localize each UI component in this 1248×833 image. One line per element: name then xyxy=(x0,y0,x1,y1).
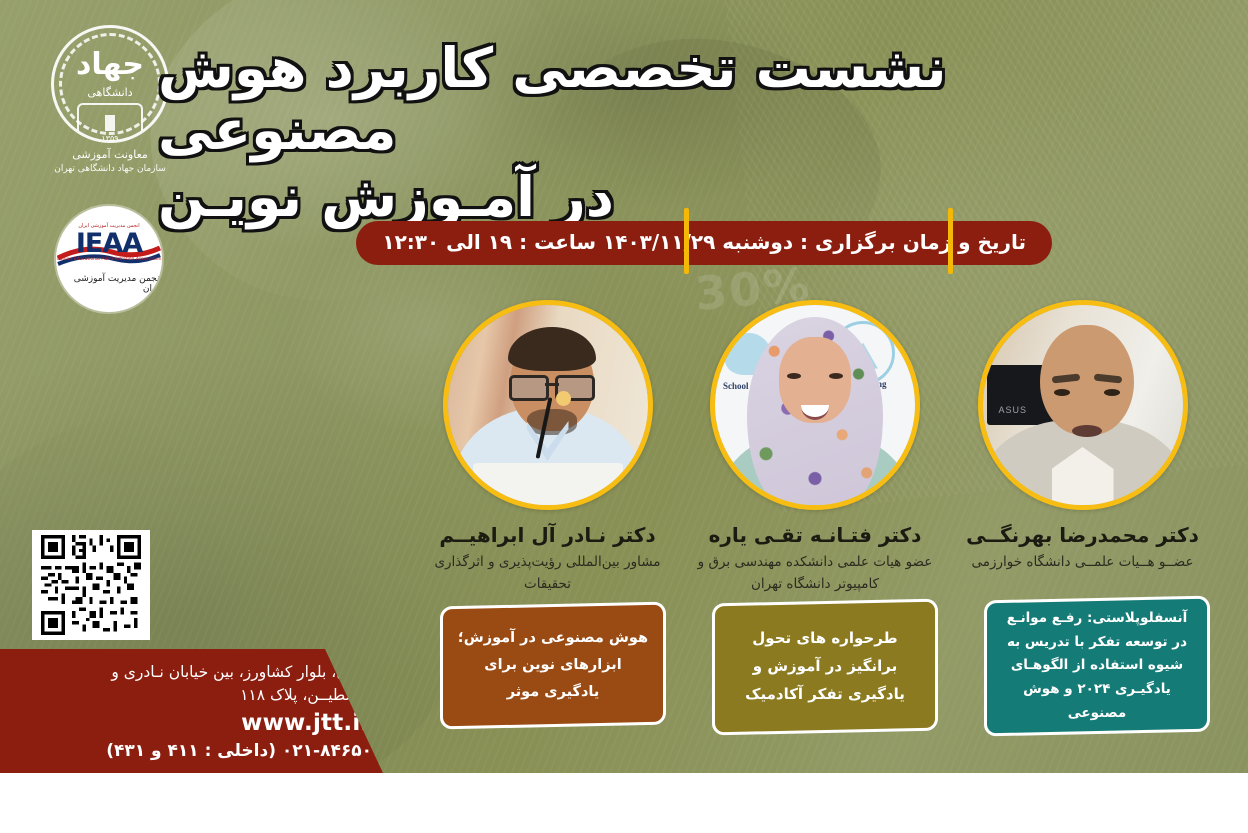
title-line-2: در آمـوزش نویـن xyxy=(158,167,1078,229)
screenshot-canvas: 30% جهاد دانشگاهی ۱۳۵۹ معاونت آموزشی ساز… xyxy=(0,0,1248,833)
jahad-logo-year: ۱۳۵۹ xyxy=(54,134,166,143)
topic-text-2: طرحواره های تحول برانگیز در آموزش و یادگ… xyxy=(727,625,923,708)
jahad-caption-line1: معاونت آموزشی xyxy=(45,148,175,163)
topic-box-2: طرحواره های تحول برانگیز در آموزش و یادگ… xyxy=(712,599,938,736)
speaker-role-3: عضــو هــیات علمــی دانشگاه خوارزمی xyxy=(963,552,1203,574)
poster-title: نشست تخصصی کاربرد هوش مصنوعی در آمـوزش ن… xyxy=(158,38,1078,229)
topic-text-3: آنسفلوپلاستی: رفـع موانـع در توسعه تفکر … xyxy=(999,607,1195,725)
jahad-logo-subword: دانشگاهی xyxy=(54,86,166,99)
jahad-building-icon xyxy=(77,103,143,131)
speaker-card-2: School University of Eng دکتر فتـانـه تق… xyxy=(688,300,943,600)
ieaa-english-subtitle: Iranian Educational Administration Assoc… xyxy=(57,258,162,263)
speakers-row: دکتر نـادر آل ابراهیــم مشاور بین‌المللی… xyxy=(420,300,1210,600)
event-poster: 30% جهاد دانشگاهی ۱۳۵۹ معاونت آموزشی ساز… xyxy=(0,0,1248,773)
speaker-photo-3: ASUS xyxy=(978,300,1188,510)
jahad-caption-line2: سازمان جهاد دانشگاهی تهران xyxy=(45,163,175,175)
speaker-divider-1 xyxy=(684,208,689,274)
contact-website[interactable]: www.jtt.ir xyxy=(241,710,372,736)
contact-address: تهران، بلوار کشاورز، بین خیابان نـادری و… xyxy=(94,661,372,708)
speaker-role-1: مشاور بین‌المللی رؤیت‌پذیری و اثرگذاری ت… xyxy=(428,552,668,595)
topic-text-1: هوش مصنوعی در آموزش؛ ابزارهای نوین برای … xyxy=(455,625,651,705)
contact-phone: ۰۲۱-۸۴۶۵۰ (داخلی : ۴۱۱ و ۴۳۱) xyxy=(106,741,372,761)
speaker-card-1: دکتر نـادر آل ابراهیــم مشاور بین‌المللی… xyxy=(420,300,675,600)
qr-code[interactable] xyxy=(32,530,150,640)
topic-box-1: هوش مصنوعی در آموزش؛ ابزارهای نوین برای … xyxy=(440,602,666,730)
speaker-photo-1 xyxy=(443,300,653,510)
speaker-name-2: دکتر فتـانـه تقـی یاره xyxy=(709,523,922,547)
speaker-name-1: دکتر نـادر آل ابراهیــم xyxy=(439,523,655,547)
title-line-1: نشست تخصصی کاربرد هوش مصنوعی xyxy=(158,38,1078,161)
speaker-divider-2 xyxy=(948,208,953,274)
topic-box-3: آنسفلوپلاستی: رفـع موانـع در توسعه تفکر … xyxy=(984,596,1210,737)
qr-code-icon xyxy=(37,535,145,635)
topics-row: هوش مصنوعی در آموزش؛ ابزارهای نوین برای … xyxy=(440,604,1210,739)
speaker-role-2: عضو هیات علمی دانشکده مهندسی برق و کامپی… xyxy=(695,552,935,595)
speaker-card-3: ASUS دکتر محمدرضا بهرنگــی عضــو هــیات … xyxy=(955,300,1210,600)
ieaa-persian-name: انجمن مدیریت آموزشی ایران xyxy=(56,274,162,294)
jahad-daneshgahi-logo: جهاد دانشگاهی ۱۳۵۹ معاونت آموزشی سازمان … xyxy=(45,25,175,195)
ieaa-acronym: IEAA xyxy=(76,230,142,257)
jahad-seal-icon: جهاد دانشگاهی ۱۳۵۹ xyxy=(51,25,169,143)
speaker-photo-2: School University of Eng xyxy=(710,300,920,510)
jahad-logo-word: جهاد xyxy=(54,50,166,80)
jahad-logo-caption: معاونت آموزشی سازمان جهاد دانشگاهی تهران xyxy=(45,148,175,175)
speaker-name-3: دکتر محمدرضا بهرنگــی xyxy=(966,523,1199,547)
ieaa-logo: انجمن مدیریت آموزشی ایران IEAA Iranian E… xyxy=(56,206,162,312)
